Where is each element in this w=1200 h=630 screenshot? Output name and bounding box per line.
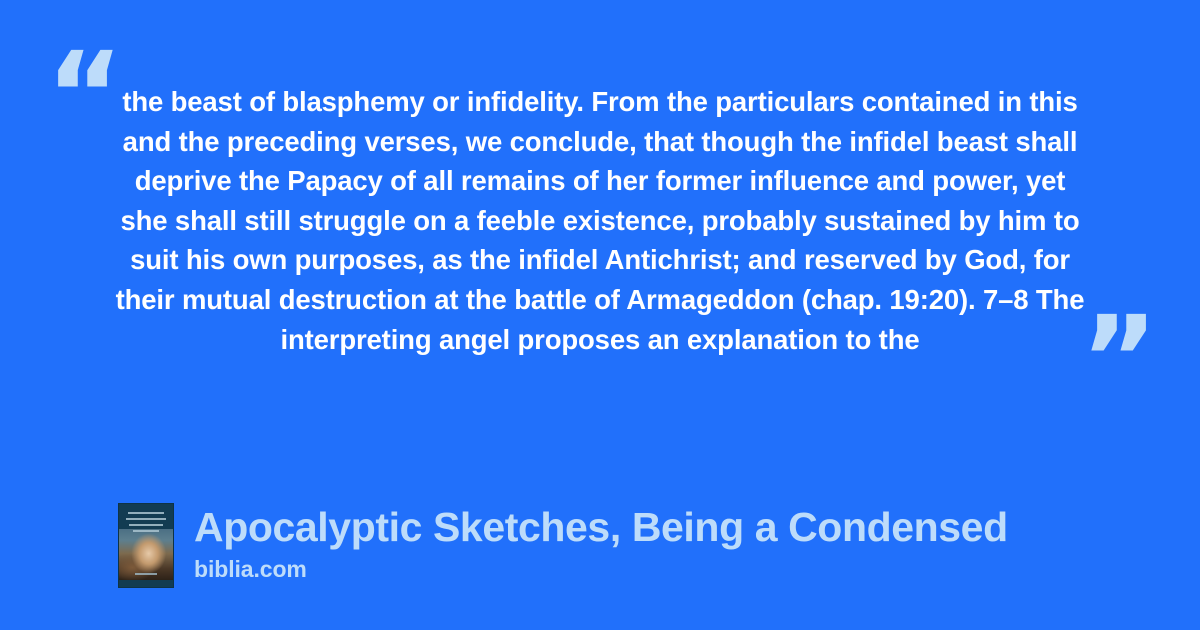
attribution-text: Apocalyptic Sketches, Being a Condensed … <box>194 503 1008 584</box>
attribution: Apocalyptic Sketches, Being a Condensed … <box>118 503 1008 588</box>
book-title: Apocalyptic Sketches, Being a Condensed <box>194 503 1008 552</box>
book-cover-author-line <box>119 562 173 580</box>
quote-card: “ the beast of blasphemy or infidelity. … <box>0 0 1200 630</box>
source-site[interactable]: biblia.com <box>194 554 1008 584</box>
book-cover-title-lines <box>124 512 168 532</box>
quote-text: the beast of blasphemy or infidelity. Fr… <box>108 82 1092 359</box>
book-cover-thumbnail <box>118 503 174 588</box>
quote-block: “ the beast of blasphemy or infidelity. … <box>0 0 1200 460</box>
close-quote-icon: ” <box>1080 300 1156 418</box>
